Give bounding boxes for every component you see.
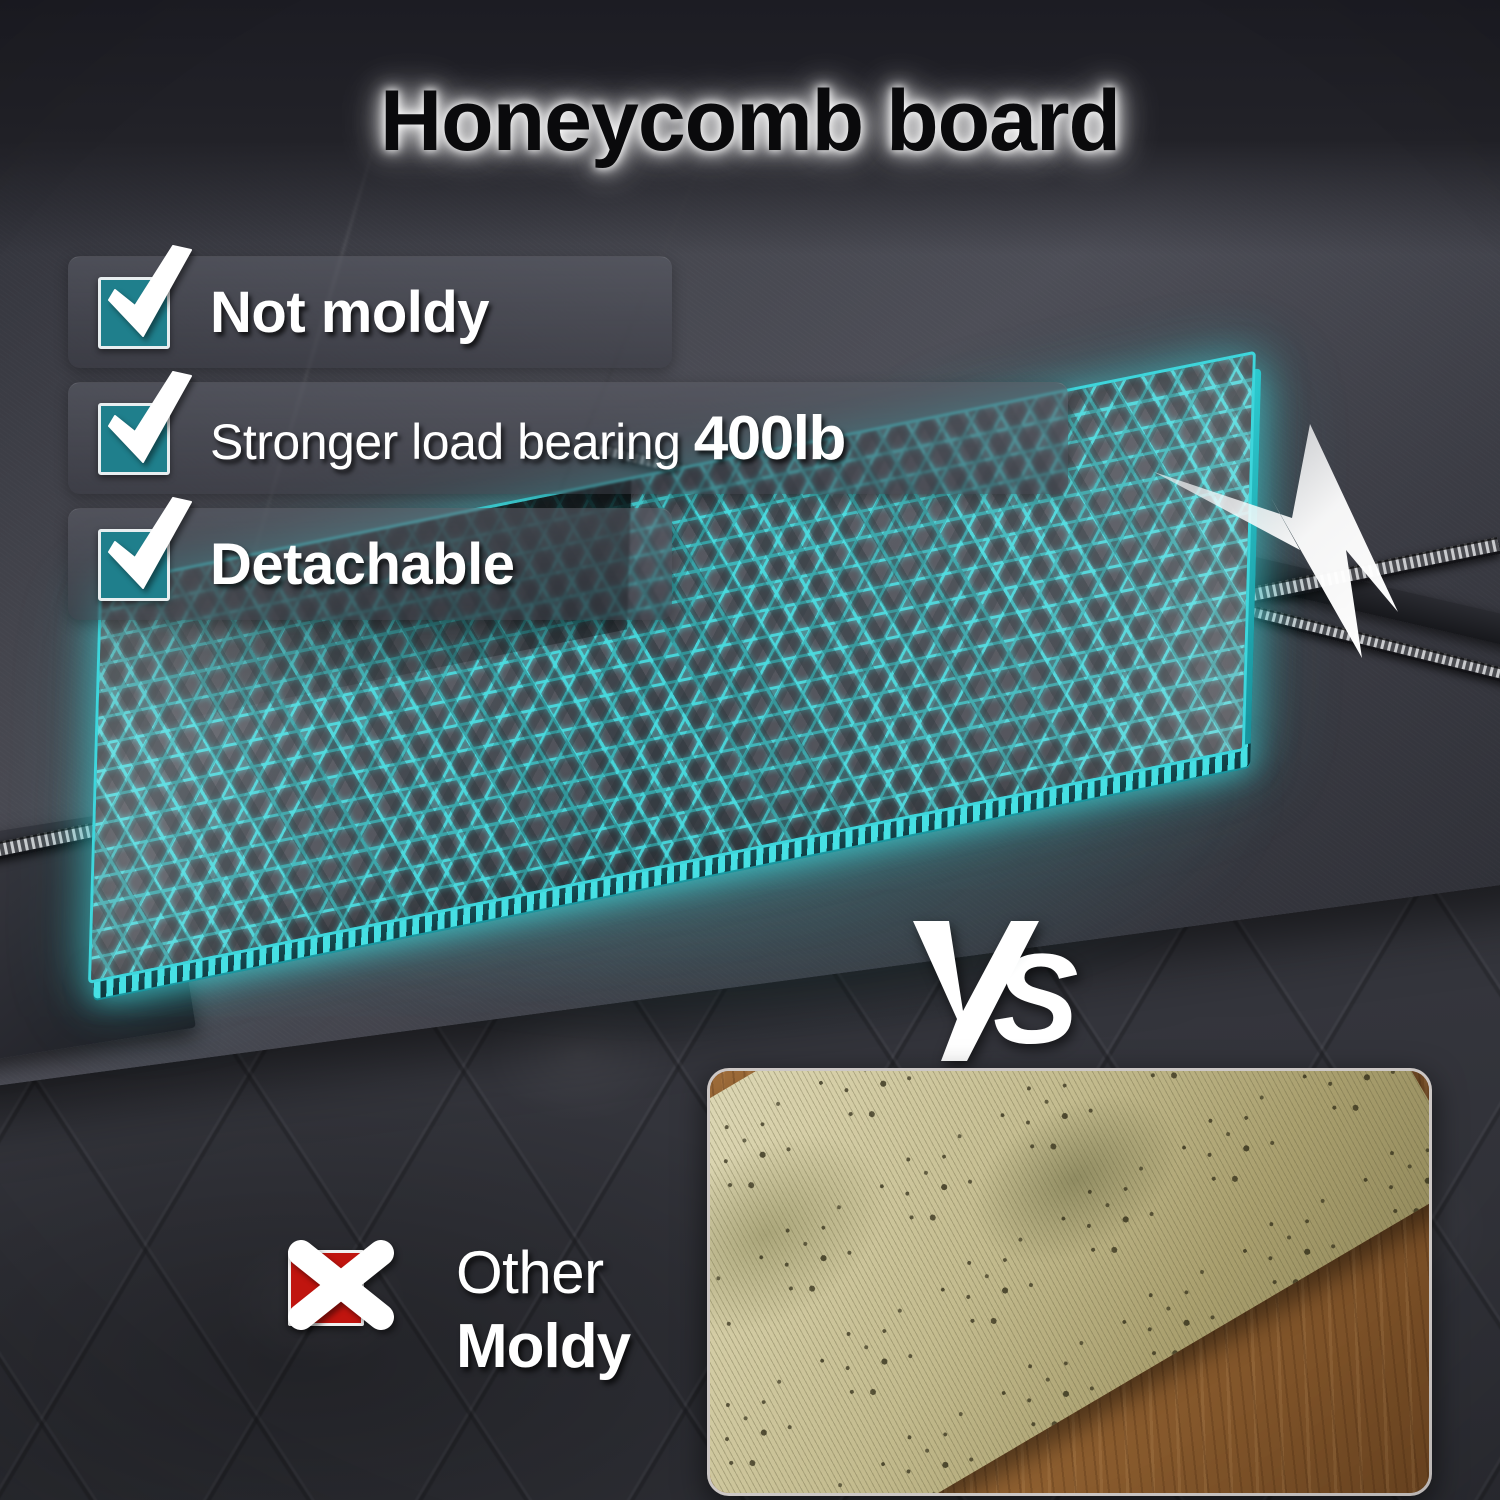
checkbox[interactable]: [98, 529, 170, 601]
x-mark-box: [288, 1250, 364, 1326]
checklist-item-load-bearing[interactable]: Stronger load bearing 400lb: [68, 382, 1068, 494]
negative-label-group: Other Moldy: [456, 1238, 630, 1382]
checklist-item-label-group: Stronger load bearing 400lb: [210, 403, 845, 474]
checklist-item-detachable[interactable]: Detachable: [68, 508, 672, 620]
x-mark-icon: [275, 1219, 401, 1345]
negative-label-line1: Other: [456, 1238, 630, 1307]
versus-badge: S: [905, 915, 1085, 1065]
check-icon: [95, 246, 199, 354]
checklist-item-label: Stronger load bearing: [210, 414, 694, 470]
down-right-arrow-icon: [1150, 400, 1440, 690]
feature-checklist: Not moldy Stronger load bearing 400lb De…: [68, 256, 1068, 634]
negative-label-line2: Moldy: [456, 1311, 630, 1382]
checkbox[interactable]: [98, 403, 170, 475]
page-title: Honeycomb board: [0, 72, 1500, 171]
checklist-item-emphasis: 400lb: [694, 404, 845, 473]
moldy-pad-photo: [707, 1068, 1432, 1496]
check-icon: [95, 372, 199, 480]
checkbox[interactable]: [98, 277, 170, 349]
check-icon: [95, 498, 199, 606]
checklist-item-label: Detachable: [210, 531, 514, 598]
product-infographic: Honeycomb board Not moldy Stronger load …: [0, 0, 1500, 1500]
checklist-item-not-moldy[interactable]: Not moldy: [68, 256, 672, 368]
checklist-item-label: Not moldy: [210, 279, 489, 346]
vs-label: S: [905, 915, 1085, 1065]
